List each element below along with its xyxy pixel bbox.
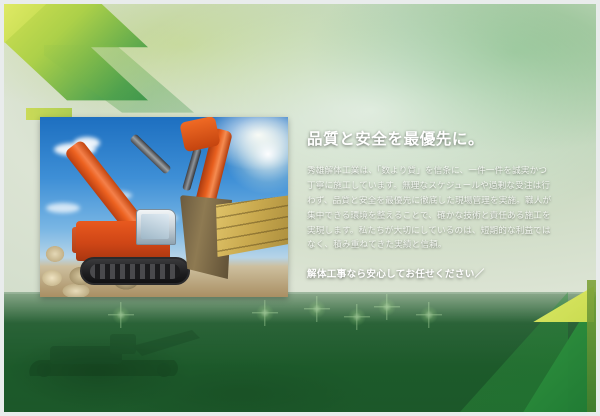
sparkle-icon bbox=[416, 302, 442, 328]
excavator-cab-window bbox=[141, 214, 169, 239]
sparkle-icon bbox=[374, 294, 400, 320]
body-copy: 秀雄解体工業は、「数より質」を信条に、一件一件を誠実かつ丁寧に施工しています。無… bbox=[307, 163, 555, 252]
cloud-shape bbox=[46, 203, 80, 213]
body-paragraph: 秀雄解体工業は、「数より質」を信条に、一件一件を誠実かつ丁寧に施工しています。無… bbox=[307, 163, 555, 252]
sparkle-icon bbox=[304, 296, 330, 322]
excavator-silhouette-icon bbox=[24, 324, 234, 390]
excavator-track-treads bbox=[90, 264, 180, 279]
closing-call-to-action: 解体工事なら安心してお任せください／ bbox=[307, 268, 555, 282]
sparkle-icon bbox=[344, 304, 370, 330]
text-column: 品質と安全を最優先に。 秀雄解体工業は、「数より質」を信条に、一件一件を誠実かつ… bbox=[307, 130, 555, 282]
right-edge-accent-bar bbox=[587, 280, 596, 416]
sparkle-icon bbox=[252, 300, 278, 326]
sparkle-icon bbox=[108, 302, 134, 328]
page-title: 品質と安全を最優先に。 bbox=[307, 130, 555, 149]
slide-canvas: 品質と安全を最優先に。 秀雄解体工業は、「数より質」を信条に、一件一件を誠実かつ… bbox=[0, 0, 600, 416]
excavator-photo bbox=[40, 117, 288, 297]
